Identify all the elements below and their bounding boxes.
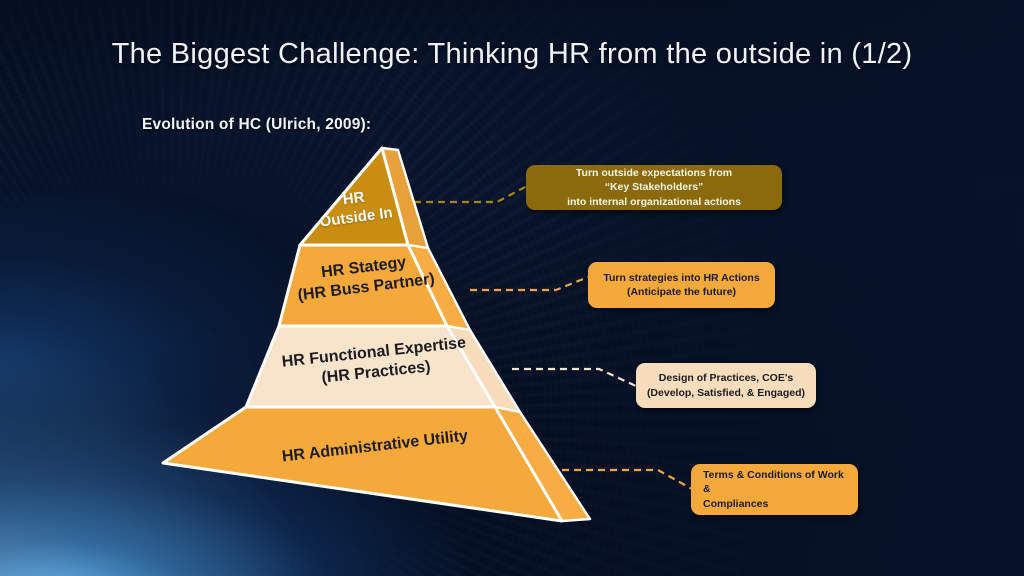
callout-practices-text: Design of Practices, COE's (Develop, Sat…	[646, 371, 806, 399]
callout-outside-in[interactable]: Turn outside expectations from “Key Stak…	[526, 165, 782, 210]
connector-line-strategy	[470, 277, 588, 290]
callout-strategy[interactable]: Turn strategies into HR Actions (Anticip…	[588, 262, 775, 308]
slide-canvas: The Biggest Challenge: Thinking HR from …	[0, 0, 1024, 576]
callout-strategy-text: Turn strategies into HR Actions (Anticip…	[598, 271, 765, 299]
hr-evolution-pyramid	[0, 0, 1024, 576]
connector-line-outside-in	[414, 186, 527, 202]
callout-terms-text: Terms & Conditions of Work & Compliances	[703, 468, 846, 510]
callout-practices[interactable]: Design of Practices, COE's (Develop, Sat…	[636, 363, 816, 408]
pyramid-tier-hr-administrative-utility[interactable]	[163, 407, 562, 521]
callout-terms[interactable]: Terms & Conditions of Work & Compliances	[691, 464, 858, 515]
connector-line-practices	[512, 369, 636, 386]
pyramid-front-faces	[163, 148, 562, 521]
callout-outside-in-text: Turn outside expectations from “Key Stak…	[536, 166, 772, 208]
connector-line-terms	[562, 470, 692, 489]
